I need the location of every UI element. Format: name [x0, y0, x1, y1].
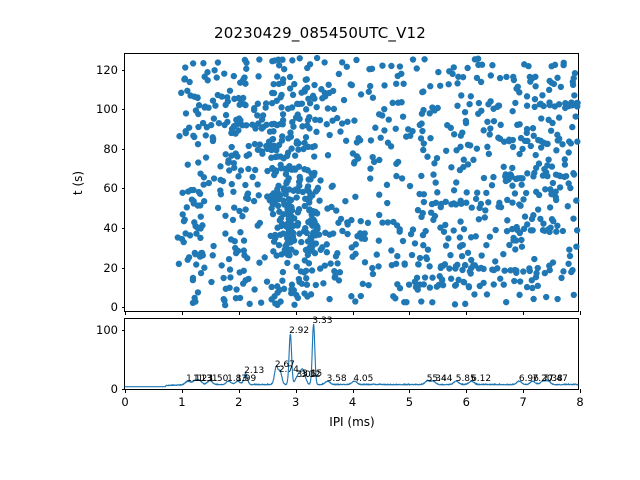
tick-label: 0: [111, 382, 118, 396]
tick-mark: [239, 311, 240, 315]
tick-label: 120: [96, 63, 118, 77]
tick-mark: [125, 389, 126, 393]
tick-mark: [122, 330, 126, 331]
tick-mark: [122, 188, 126, 189]
tick-label: 100: [96, 102, 118, 116]
tick-mark: [122, 149, 126, 150]
tick-label: 0: [111, 300, 118, 314]
peak-label: 4.05: [353, 374, 373, 384]
tick-mark: [353, 311, 354, 315]
tick-label: 8: [576, 395, 583, 409]
histogram-x-axis-label: IPI (ms): [329, 415, 374, 429]
peak-label: 2.13: [244, 366, 264, 376]
tick-label: 1: [178, 395, 185, 409]
tick-label: 40: [103, 221, 118, 235]
tick-label: 2: [235, 395, 242, 409]
tick-mark: [296, 389, 297, 393]
tick-label: 20: [103, 261, 118, 275]
tick-mark: [122, 307, 126, 308]
tick-label: 80: [103, 142, 118, 156]
tick-label: 0: [121, 395, 128, 409]
tick-label: 6: [463, 395, 470, 409]
peak-label: 3.58: [327, 374, 347, 384]
tick-label: 5: [406, 395, 413, 409]
peak-label: 6.12: [471, 374, 491, 384]
peak-label: 2.92: [289, 326, 309, 336]
tick-mark: [523, 389, 524, 393]
tick-label: 60: [103, 181, 118, 195]
tick-label: 3: [292, 395, 299, 409]
tick-label: 4: [349, 395, 356, 409]
peak-label: 7.47: [548, 374, 568, 384]
tick-mark: [466, 389, 467, 393]
tick-mark: [523, 311, 524, 315]
tick-mark: [409, 389, 410, 393]
scatter-y-axis-label: t (s): [71, 171, 85, 195]
tick-mark: [580, 389, 581, 393]
histogram-axes: 0100 012345678 1.111.231.311.501.831.992…: [124, 318, 579, 390]
peak-label: 5.44: [432, 374, 452, 384]
tick-mark: [239, 389, 240, 393]
tick-mark: [122, 70, 126, 71]
page-title: 20230429_085450UTC_V12: [0, 24, 640, 42]
tick-label: 7: [519, 395, 526, 409]
scatter-points-layer: [125, 54, 578, 311]
tick-mark: [466, 311, 467, 315]
tick-label: 100: [96, 323, 118, 337]
scatter-plot-axes: 020406080100120: [124, 53, 579, 312]
tick-mark: [122, 228, 126, 229]
matplotlib-figure: 20230429_085450UTC_V12 020406080100120 t…: [0, 0, 640, 480]
tick-mark: [353, 389, 354, 393]
scatter-point-cloud: [175, 55, 581, 308]
tick-mark: [182, 311, 183, 315]
tick-mark: [122, 109, 126, 110]
peak-label: 1.50: [208, 374, 228, 384]
tick-mark: [580, 311, 581, 315]
tick-mark: [122, 268, 126, 269]
tick-mark: [296, 311, 297, 315]
tick-mark: [409, 311, 410, 315]
tick-mark: [125, 311, 126, 315]
peak-label: 3.15: [302, 369, 322, 379]
peak-label: 3.33: [312, 316, 332, 326]
tick-mark: [182, 389, 183, 393]
